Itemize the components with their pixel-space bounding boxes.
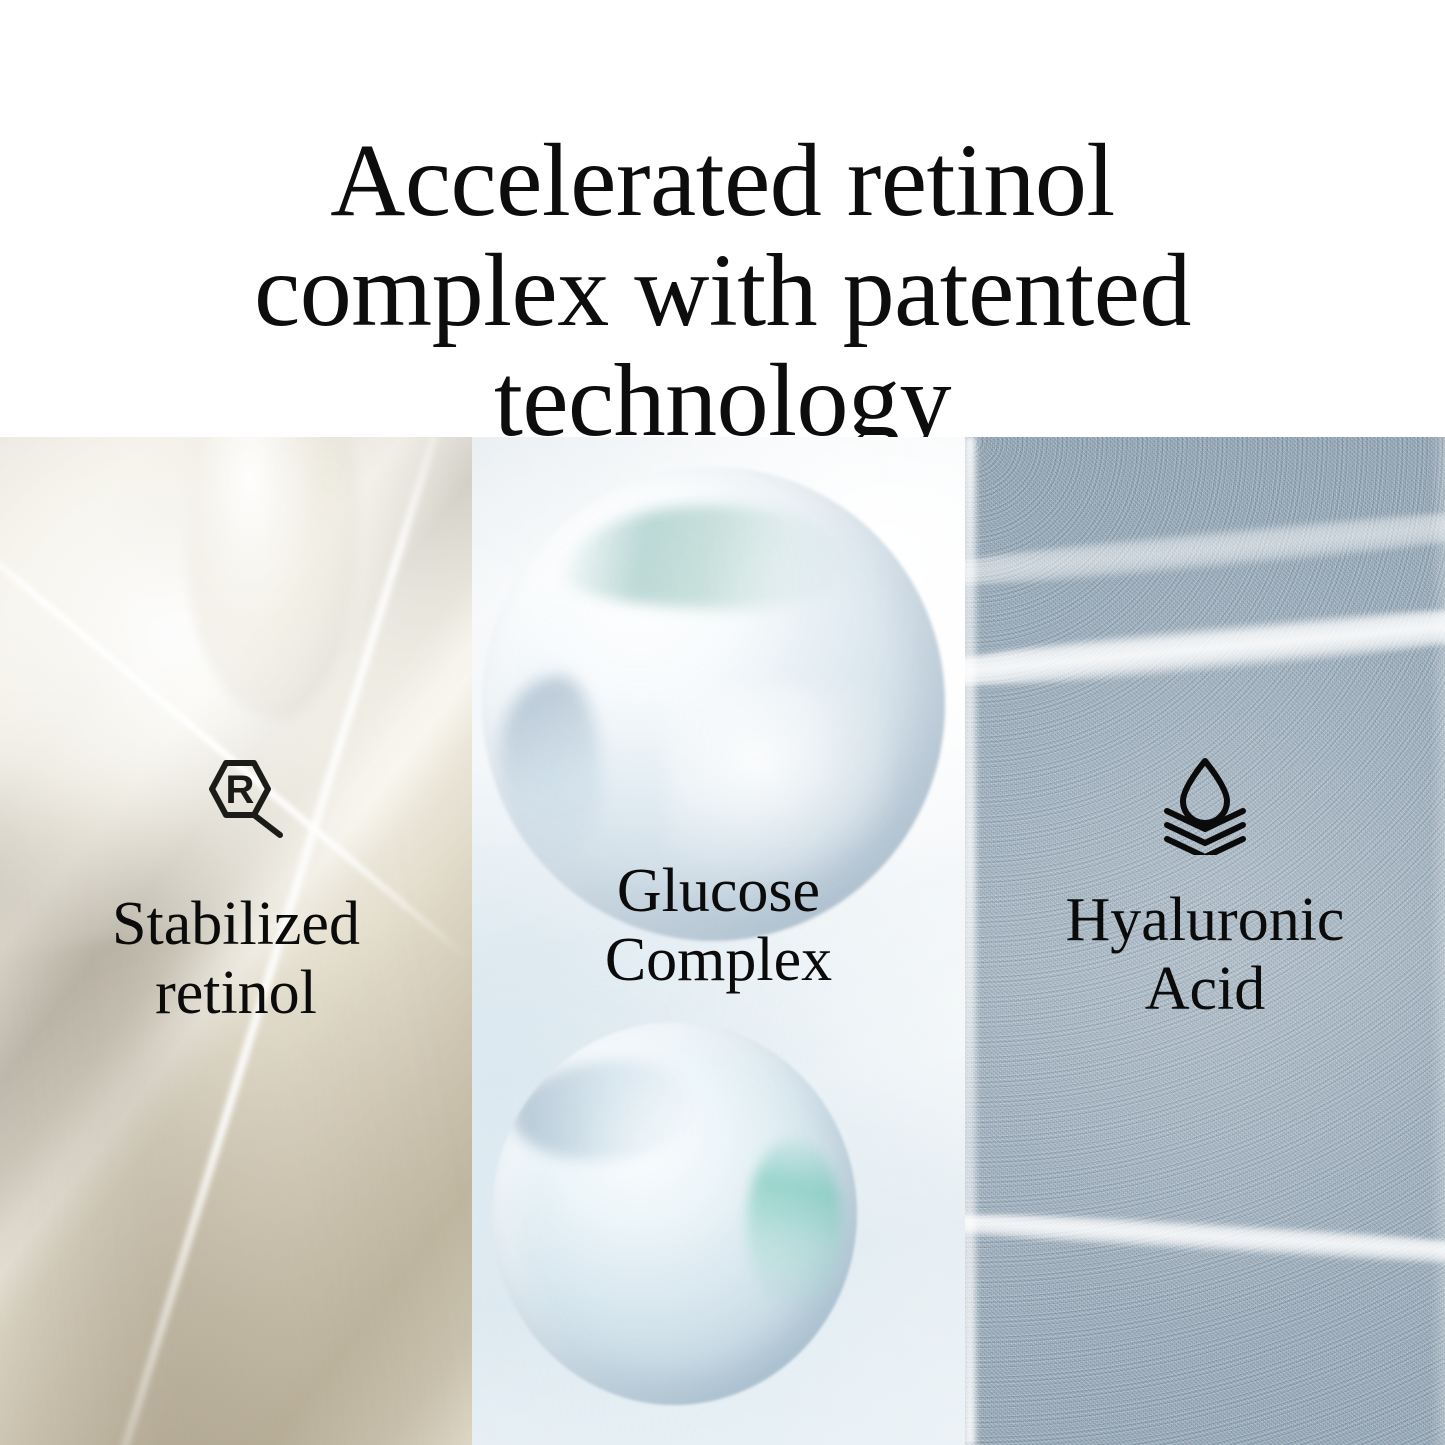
panel-caption-glucose-complex: Glucose Complex bbox=[597, 857, 840, 996]
panel-content-hyaluronic-acid: Hyaluronic Acid bbox=[965, 755, 1445, 1025]
svg-text:R: R bbox=[226, 768, 255, 812]
ingredient-panel-hyaluronic-acid[interactable]: Hyaluronic Acid bbox=[965, 437, 1445, 1445]
sphere-gloss-upper bbox=[667, 685, 889, 875]
water-drop-layers-icon bbox=[1153, 755, 1257, 860]
sphere-iridescence-upper bbox=[565, 505, 852, 609]
ingredient-panel-stabilized-retinol[interactable]: R Stabilized retinol bbox=[0, 437, 472, 1445]
hexagon-r-molecule-icon: R bbox=[182, 755, 290, 864]
ingredient-benefits-banner: Accelerated retinol complex with patente… bbox=[0, 0, 1445, 1445]
sphere-iridescence-lower bbox=[747, 1137, 842, 1313]
panel-content-stabilized-retinol: R Stabilized retinol bbox=[0, 755, 472, 1029]
panel-caption-hyaluronic-acid: Hyaluronic Acid bbox=[1058, 886, 1353, 1025]
headline-section: Accelerated retinol complex with patente… bbox=[0, 0, 1445, 437]
gel-sphere-lower bbox=[492, 1022, 857, 1405]
panel-caption-stabilized-retinol: Stabilized retinol bbox=[104, 890, 368, 1029]
panel-content-glucose-complex: Glucose Complex bbox=[472, 857, 965, 996]
ingredient-panel-strip: R Stabilized retinol bbox=[0, 437, 1445, 1445]
page-title: Accelerated retinol complex with patente… bbox=[163, 126, 1283, 457]
ingredient-panel-glucose-complex[interactable]: Glucose Complex bbox=[472, 437, 965, 1445]
